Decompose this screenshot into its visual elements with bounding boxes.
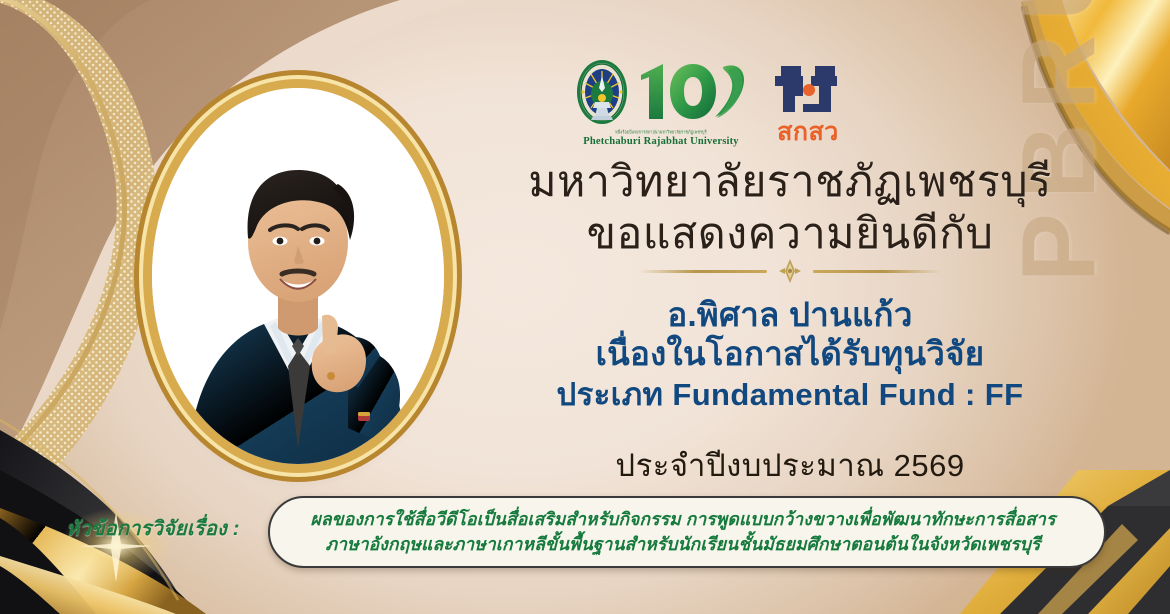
headline-line-2: ขอแสดงความยินดีกับ <box>470 208 1110 260</box>
headline-block: มหาวิทยาลัยราชภัฏเพชรบุรี ขอแสดงความยินด… <box>470 156 1110 261</box>
award-fund-type: ประเภท Fundamental Fund : FF <box>470 376 1110 415</box>
anniversary-100-icon <box>631 61 747 123</box>
divider-line-left <box>639 270 767 273</box>
award-budget-year: ประจำปีงบประมาณ 2569 <box>470 440 1110 490</box>
university-seal-icon <box>575 58 629 126</box>
anniversary-subtitle-thai: หนึ่งร้อยปีแห่งการสถาปนามหาวิทยาลัยราชภั… <box>615 128 707 136</box>
award-block: อ.พิศาล ปานแก้ว เนื่องในโอกาสได้รับทุนวิ… <box>470 296 1110 415</box>
award-occasion: เนื่องในโอกาสได้รับทุนวิจัย <box>470 335 1110 374</box>
anniversary-logo: หนึ่งร้อยปีแห่งการสถาปนามหาวิทยาลัยราชภั… <box>575 58 747 147</box>
research-title-pill: ผลของการใช้สื่อวีดีโอเป็นสื่อเสริมสำหรับ… <box>268 496 1106 568</box>
ornamental-divider <box>470 258 1110 284</box>
divider-line-right <box>813 270 941 273</box>
congratulations-banner: PBRU <box>0 0 1170 614</box>
tsri-logo: สกสว <box>775 60 841 145</box>
honoree-name: อ.พิศาล ปานแก้ว <box>470 296 1110 335</box>
research-title-label: หัวข้อการวิจัยเรื่อง : <box>66 512 240 544</box>
research-title-line-2: ภาษาอังกฤษและภาษาเกาหลีขั้นพื้นฐานสำหรับ… <box>311 532 1056 557</box>
logo-row: หนึ่งร้อยปีแห่งการสถาปนามหาวิทยาลัยราชภั… <box>575 58 841 147</box>
honoree-portrait <box>152 88 444 464</box>
divider-ornament-icon <box>773 258 807 284</box>
anniversary-subtitle-english: Phetchaburi Rajabhat University <box>583 136 739 147</box>
portrait-illustration <box>152 88 444 464</box>
research-title-line-1: ผลของการใช้สื่อวีดีโอเป็นสื่อเสริมสำหรับ… <box>311 507 1056 532</box>
research-title-lines: ผลของการใช้สื่อวีดีโอเป็นสื่อเสริมสำหรับ… <box>293 507 1082 558</box>
tsri-mark-icon <box>775 60 841 118</box>
headline-line-1: มหาวิทยาลัยราชภัฏเพชรบุรี <box>470 156 1110 208</box>
tsri-logo-text: สกสว <box>777 120 839 145</box>
